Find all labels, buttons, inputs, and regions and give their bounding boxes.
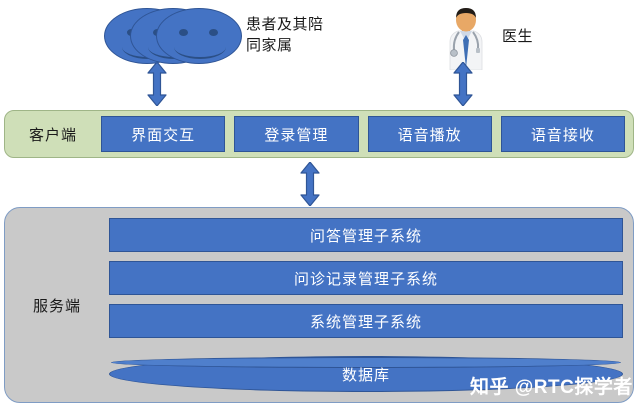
database-label: 数据库	[342, 364, 390, 385]
server-module-label: 问诊记录管理子系统	[294, 268, 438, 289]
doctor-client-arrow-icon	[453, 62, 473, 106]
server-layer-title: 服务端	[5, 295, 109, 316]
client-module-label: 语音播放	[398, 124, 462, 145]
client-module-list: 界面交互 登录管理 语音播放 语音接收	[101, 116, 633, 152]
server-module-label: 系统管理子系统	[310, 311, 422, 332]
server-module-label: 问答管理子系统	[310, 225, 422, 246]
client-server-arrow-icon	[300, 162, 320, 206]
client-layer-title: 客户端	[5, 124, 101, 145]
server-module-system-management[interactable]: 系统管理子系统	[109, 304, 623, 338]
watermark: 知乎 @RTC探学者	[470, 372, 633, 399]
doctor-label: 医生	[502, 26, 592, 47]
client-module-label: 语音接收	[531, 124, 595, 145]
architecture-diagram: 患者及其陪 同家属 医生	[0, 0, 640, 407]
doctor-icon	[443, 6, 489, 70]
client-module-label: 界面交互	[131, 124, 195, 145]
client-module-voice-receive[interactable]: 语音接收	[501, 116, 625, 152]
client-module-label: 登录管理	[264, 124, 328, 145]
server-module-qa-management[interactable]: 问答管理子系统	[109, 218, 623, 252]
server-module-consultation-record-management[interactable]: 问诊记录管理子系统	[109, 261, 623, 295]
client-module-login-management[interactable]: 登录管理	[234, 116, 358, 152]
patients-label: 患者及其陪 同家属	[246, 14, 366, 56]
client-module-voice-playback[interactable]: 语音播放	[368, 116, 492, 152]
client-layer: 客户端 界面交互 登录管理 语音播放 语音接收	[4, 110, 634, 158]
patients-client-arrow-icon	[147, 62, 167, 106]
smiley-mouth-icon	[174, 35, 226, 59]
smiley-face-icon	[156, 8, 242, 64]
patients-icon	[104, 8, 246, 70]
server-module-list: 问答管理子系统 问诊记录管理子系统 系统管理子系统 数据库	[109, 218, 633, 392]
client-module-ui-interaction[interactable]: 界面交互	[101, 116, 225, 152]
